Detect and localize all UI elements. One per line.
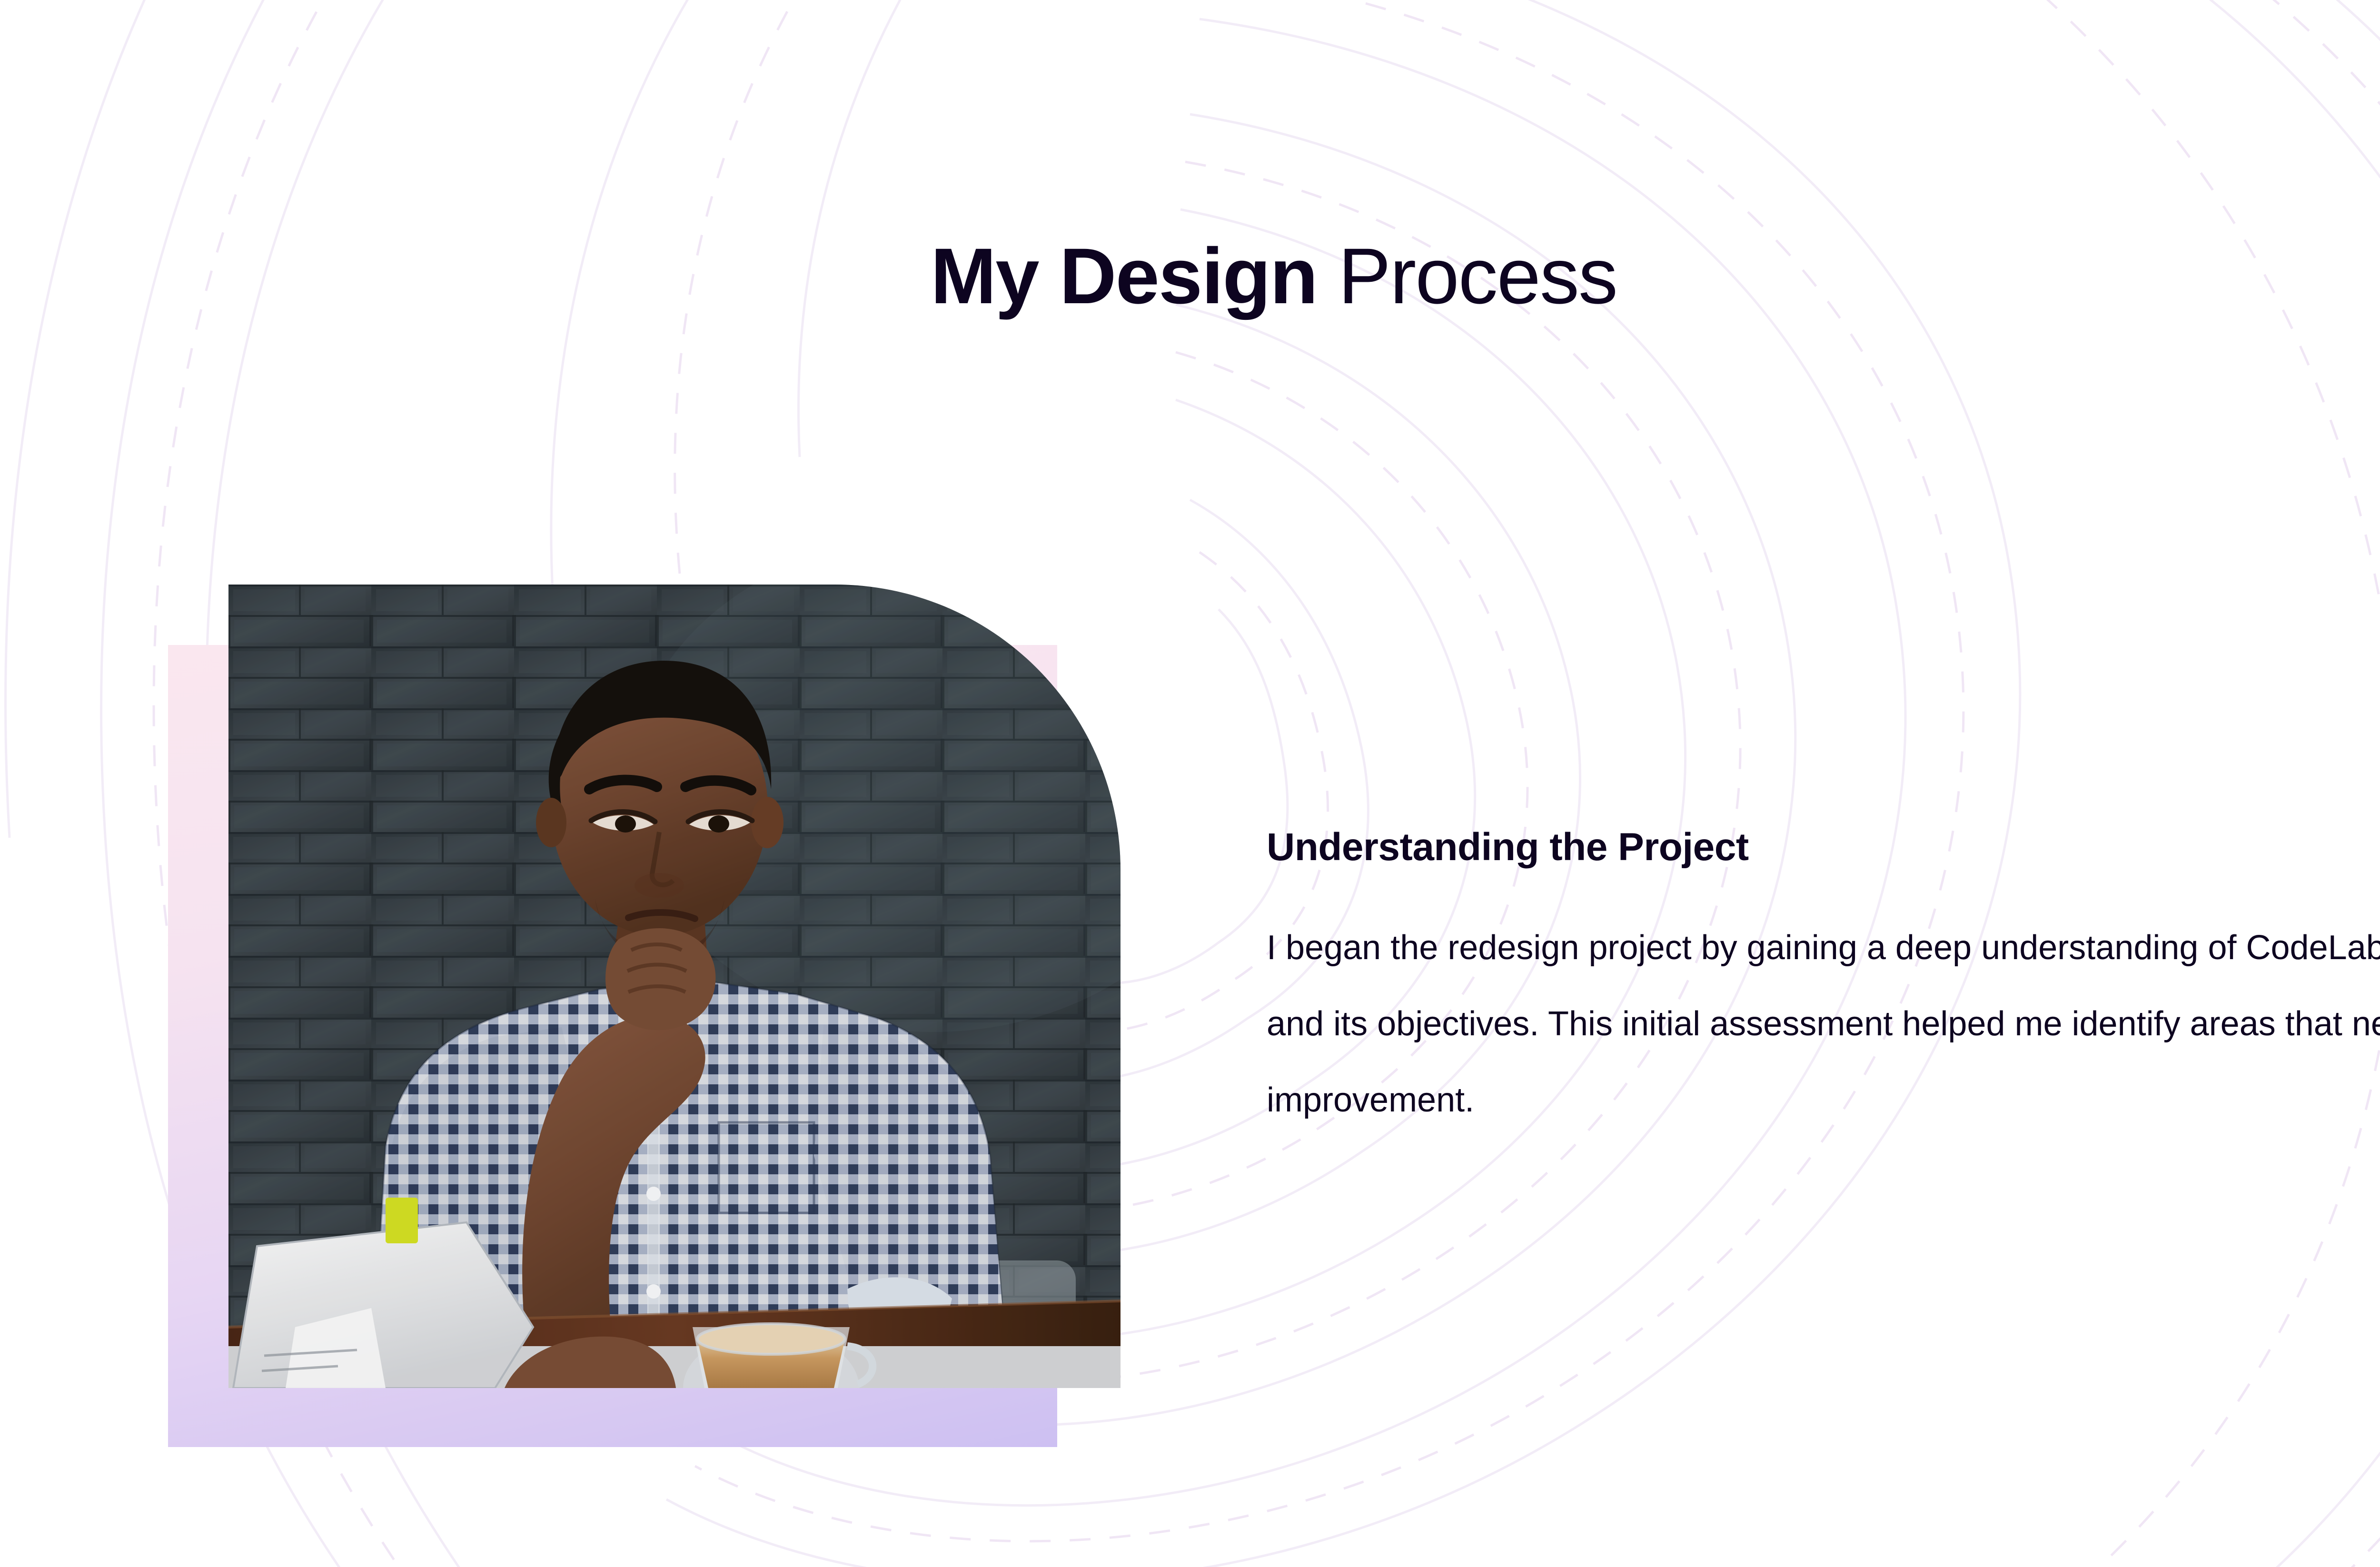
section-paragraph: I began the redesign project by gaining … (1267, 910, 2380, 1138)
page-title: My Design Process (931, 234, 1617, 319)
content-column: Understanding the Project I began the re… (1267, 826, 2380, 1138)
photo-frame (228, 585, 1121, 1388)
title-regular-part: Process (1317, 232, 1617, 320)
media-block (168, 585, 1122, 1448)
photo-thoughtful-man-reviewing-documents (228, 585, 1121, 1388)
slide-canvas: My Design Process (0, 0, 2380, 1567)
title-bold-part: My Design (931, 232, 1317, 320)
section-subheading: Understanding the Project (1267, 826, 2380, 869)
